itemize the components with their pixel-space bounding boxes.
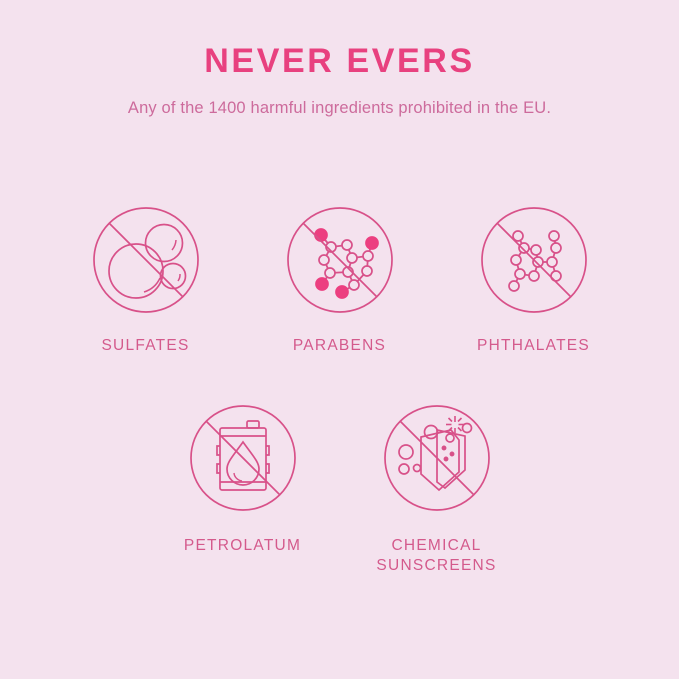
icon-row-top: SULFATES (0, 198, 679, 356)
no-parabens-molecule-icon (278, 198, 402, 322)
item-parabens: PARABENS (243, 198, 437, 356)
item-label: PETROLATUM (184, 536, 301, 556)
no-chemical-sunscreens-bottle-icon (375, 396, 499, 520)
item-label: SULFATES (101, 336, 189, 356)
no-petrolatum-barrel-icon (181, 396, 305, 520)
never-evers-poster: NEVER EVERS Any of the 1400 harmful ingr… (0, 0, 679, 679)
item-chemical-sunscreens: CHEMICAL SUNSCREENS (340, 396, 534, 576)
item-sulfates: SULFATES (49, 198, 243, 356)
item-petrolatum: PETROLATUM (146, 396, 340, 576)
header: NEVER EVERS Any of the 1400 harmful ingr… (0, 44, 679, 119)
icon-row-bottom: PETROLATUM (0, 396, 679, 576)
item-label: CHEMICAL SUNSCREENS (376, 536, 496, 576)
no-phthalates-molecule-icon (472, 198, 596, 322)
item-phthalates: PHTHALATES (437, 198, 631, 356)
item-label: PHTHALATES (477, 336, 590, 356)
page-subtitle: Any of the 1400 harmful ingredients proh… (0, 78, 679, 119)
no-sulfates-bubbles-icon (84, 198, 208, 322)
page-title: NEVER EVERS (0, 44, 679, 78)
item-label: PARABENS (293, 336, 386, 356)
